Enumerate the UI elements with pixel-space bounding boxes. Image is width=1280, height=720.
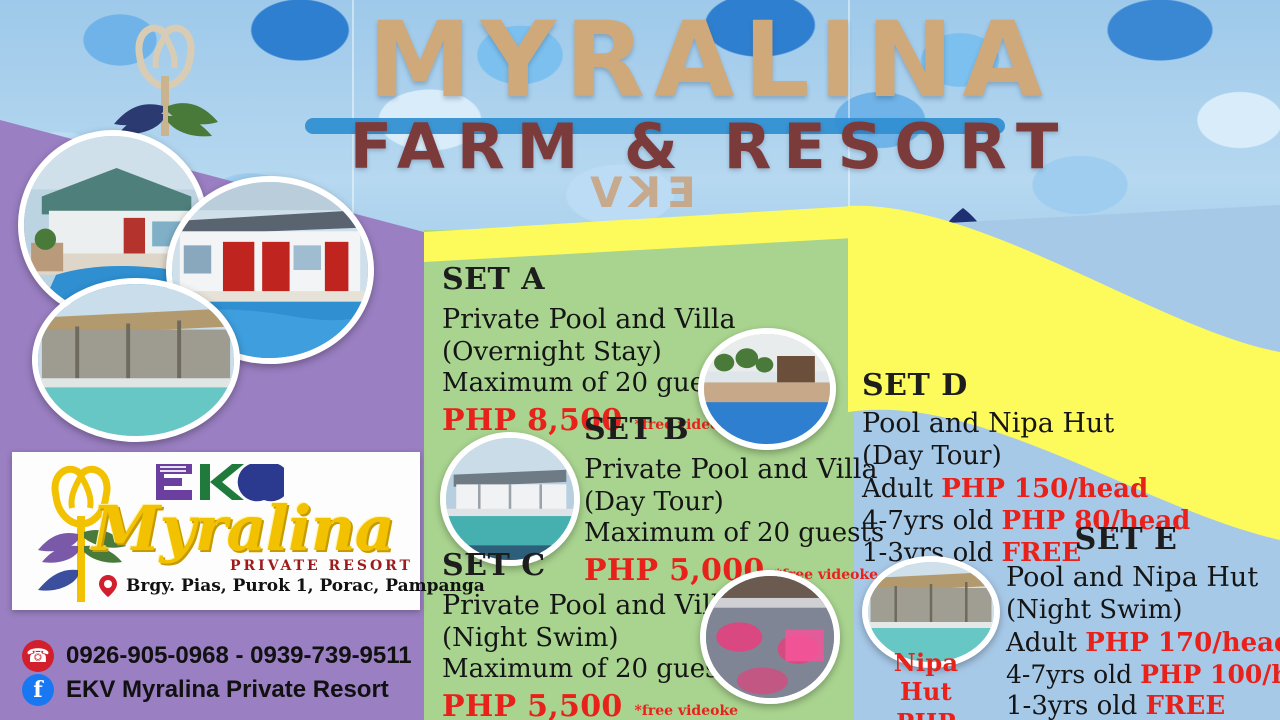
nipa-hut-price: PHP 500 <box>868 708 984 720</box>
set-e-toddler-label: 1-3yrs old <box>1006 691 1137 720</box>
set-c-price: PHP 5,500 <box>442 689 623 720</box>
set-a-type: (Overnight Stay) <box>442 338 742 368</box>
package-set-e: SET E Pool and Nipa Hut (Night Swim) Adu… <box>1006 522 1280 720</box>
set-a-desc: Private Pool and Villa <box>442 305 742 336</box>
photo-set-b-villa <box>440 432 580 566</box>
set-d-adult-rate: Adult PHP 150/head <box>862 475 1190 505</box>
set-c-type: (Night Swim) <box>442 624 742 654</box>
set-d-adult-price: PHP 150/head <box>941 474 1148 504</box>
logo-tagline: PRIVATE RESORT <box>230 558 413 574</box>
set-b-title: SET B <box>584 412 884 447</box>
banner-ekv-mark: EKV <box>470 168 810 217</box>
set-a-title: SET A <box>442 262 742 297</box>
logo-script-name: Myralina <box>92 492 394 565</box>
facebook-icon: f <box>22 674 54 706</box>
nipa-hut-label: Nipa Hut <box>868 648 984 706</box>
set-e-toddler-rate: 1-3yrs old FREE <box>1006 692 1280 720</box>
logo-card: Myralina PRIVATE RESORT Brgy. Pias, Puro… <box>12 452 420 610</box>
set-d-desc: Pool and Nipa Hut <box>862 409 1190 440</box>
set-e-kid-rate: 4-7yrs old PHP 100/head <box>1006 661 1280 690</box>
set-c-title: SET C <box>442 548 742 583</box>
set-e-adult-label: Adult <box>1006 628 1077 658</box>
set-c-desc: Private Pool and Villa <box>442 591 742 622</box>
phone-icon: ☎ <box>22 640 54 672</box>
set-c-note: *free videoke <box>635 703 739 720</box>
set-d-adult-label: Adult <box>862 474 933 504</box>
set-e-title: SET E <box>1006 522 1246 557</box>
set-d-type: (Day Tour) <box>862 442 1190 472</box>
set-e-desc: Pool and Nipa Hut <box>1006 563 1280 594</box>
set-b-desc: Private Pool and Villa <box>584 455 884 486</box>
set-e-kid-price: PHP 100/head <box>1140 660 1280 689</box>
set-e-type: (Night Swim) <box>1006 596 1280 626</box>
location-pin-icon <box>98 574 118 598</box>
logo-address: Brgy. Pias, Purok 1, Porac, Pampanga <box>126 576 485 596</box>
set-b-type: (Day Tour) <box>584 488 884 518</box>
set-e-kid-label: 4-7yrs old <box>1006 660 1132 689</box>
photo-nipa-hut-pool <box>32 278 240 442</box>
resort-promo-flyer: MYRALINA FARM & RESORT EKV <box>0 0 1280 720</box>
set-e-adult-price: PHP 170/head <box>1085 628 1280 658</box>
nipa-hut-pricing: Nipa Hut PHP 500 <box>868 648 984 720</box>
contact-phone-row[interactable]: ☎ 0926-905-0968 - 0939-739-9511 <box>22 640 412 672</box>
set-d-title: SET D <box>862 368 1190 403</box>
set-c-capacity: Maximum of 20 guests <box>442 655 742 685</box>
contact-facebook-name: EKV Myralina Private Resort <box>66 676 389 704</box>
set-e-toddler-price: FREE <box>1145 691 1225 720</box>
contact-facebook-row[interactable]: f EKV Myralina Private Resort <box>22 674 389 706</box>
set-e-adult-rate: Adult PHP 170/head <box>1006 629 1280 659</box>
set-d-kid-label: 4-7yrs old <box>862 506 993 536</box>
photo-set-c-night-pool <box>700 570 840 704</box>
set-b-capacity: Maximum of 20 guests <box>584 519 884 549</box>
banner-title: MYRALINA <box>180 8 1240 112</box>
contact-phone-numbers: 0926-905-0968 - 0939-739-9511 <box>66 642 412 670</box>
package-set-c: SET C Private Pool and Villa (Night Swim… <box>442 548 742 720</box>
